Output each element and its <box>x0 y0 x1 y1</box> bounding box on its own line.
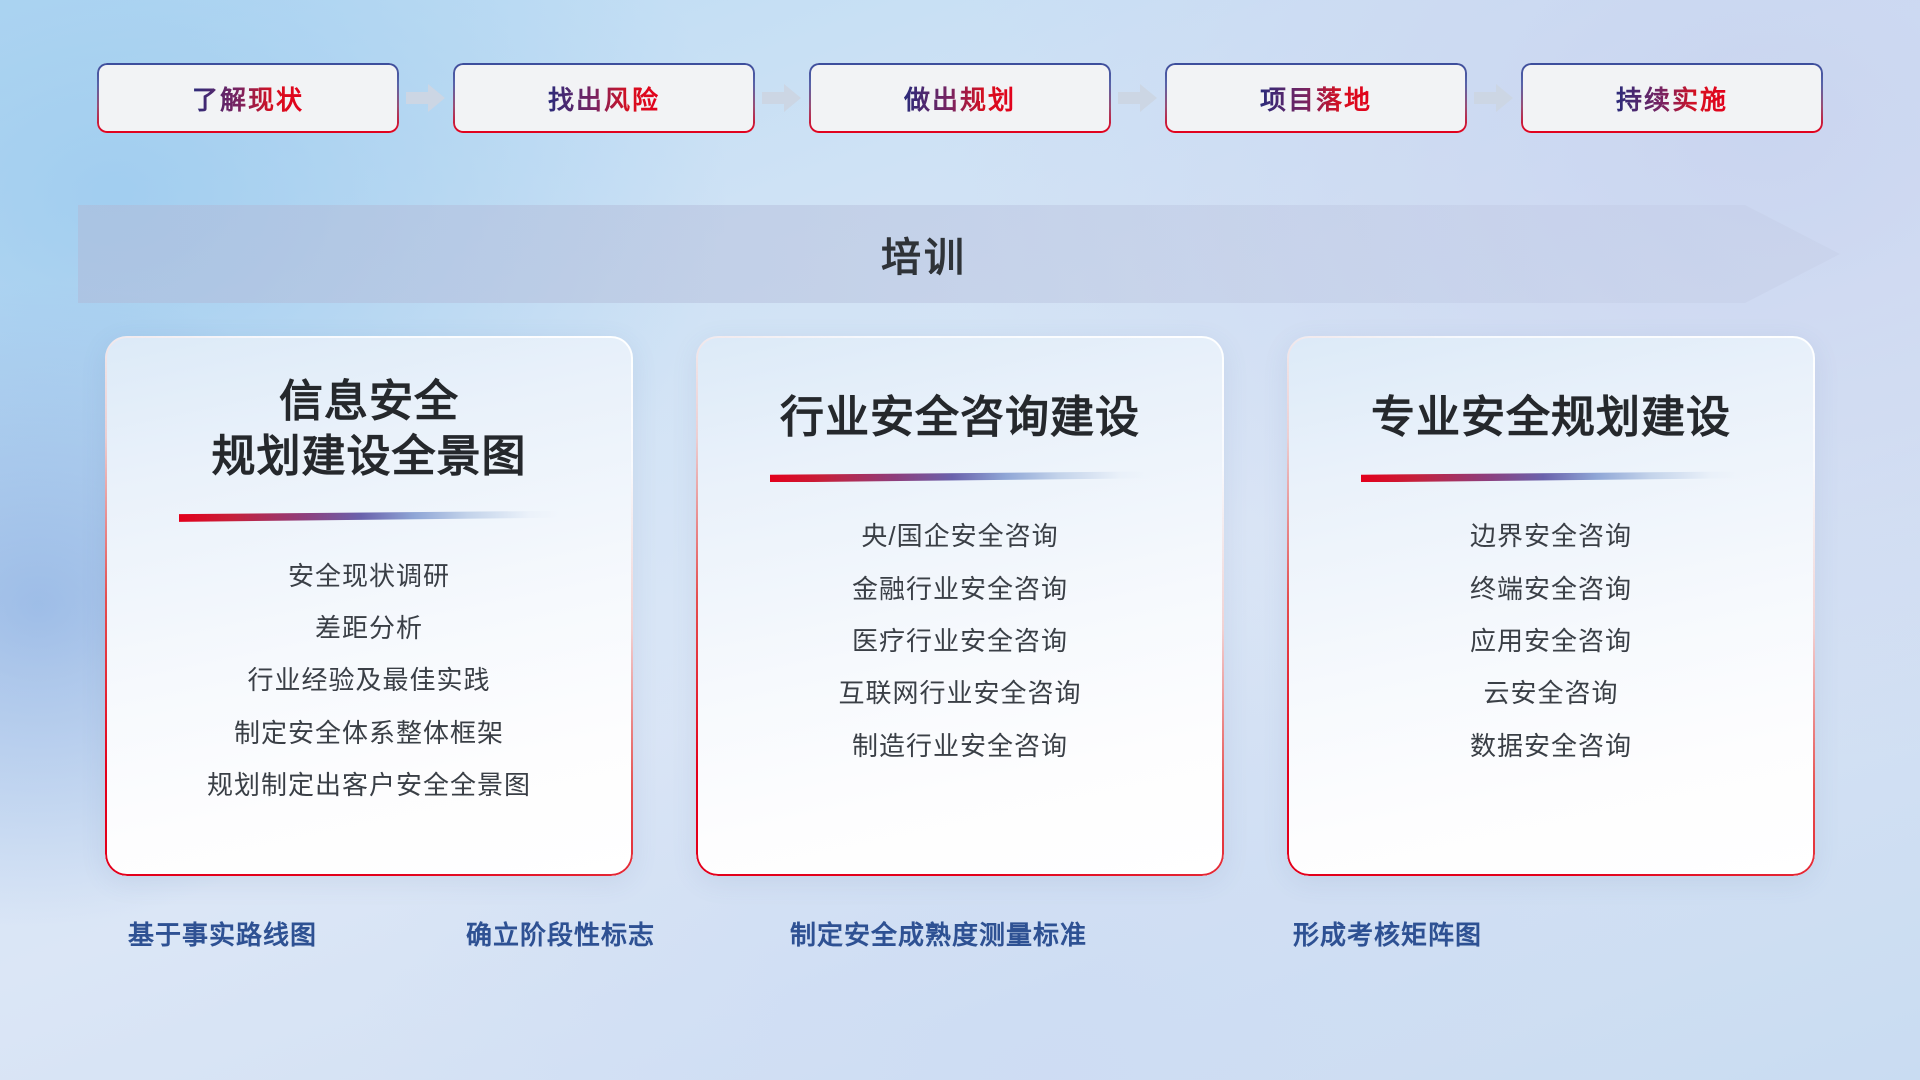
step-box-4[interactable]: 项目落地 <box>1165 63 1467 133</box>
list-item: 应用安全咨询 <box>1470 621 1632 661</box>
bottom-label-2: 确立阶段性标志 <box>466 915 655 952</box>
arrow-right-icon <box>399 63 453 133</box>
process-step-row: 了解现状 找出风险 做出规划 项目落地 持续实施 <box>0 63 1920 133</box>
list-item: 制定安全体系整体框架 <box>234 713 504 753</box>
step-box-3[interactable]: 做出规划 <box>809 63 1111 133</box>
step-label: 了解现状 <box>192 80 304 117</box>
list-item: 边界安全咨询 <box>1470 516 1632 556</box>
list-item: 行业经验及最佳实践 <box>247 660 490 700</box>
list-item: 医疗行业安全咨询 <box>852 621 1068 661</box>
card-3[interactable]: 专业安全规划建设 边界安全咨询 终端安全咨询 应用安全咨询 云安全咨询 数据安全… <box>1287 336 1815 876</box>
list-item: 安全现状调研 <box>288 556 450 596</box>
card-divider <box>770 471 1150 482</box>
arrow-right-icon <box>1111 63 1165 133</box>
card-title-line1: 专业安全规划建设 <box>1371 390 1731 445</box>
card-title: 行业安全咨询建设 <box>780 390 1140 445</box>
bottom-labels-row: 基于事实路线图 确立阶段性标志 制定安全成熟度测量标准 形成考核矩阵图 <box>0 915 1920 967</box>
step-label: 找出风险 <box>548 80 660 117</box>
card-title: 专业安全规划建设 <box>1371 390 1731 445</box>
step-box-5[interactable]: 持续实施 <box>1521 63 1823 133</box>
list-item: 制造行业安全咨询 <box>852 726 1068 766</box>
step-box-1[interactable]: 了解现状 <box>97 63 399 133</box>
card-list: 边界安全咨询 终端安全咨询 应用安全咨询 云安全咨询 数据安全咨询 <box>1287 516 1815 765</box>
card-list: 安全现状调研 差距分析 行业经验及最佳实践 制定安全体系整体框架 规划制定出客户… <box>105 556 633 805</box>
list-item: 数据安全咨询 <box>1470 726 1632 766</box>
list-item: 规划制定出客户安全全景图 <box>207 765 531 805</box>
list-item: 金融行业安全咨询 <box>852 569 1068 609</box>
cards-container: 信息安全 规划建设全景图 安全现状调研 差距分析 行业经验及最佳实践 制定安全体… <box>0 336 1920 876</box>
card-2[interactable]: 行业安全咨询建设 央/国企安全咨询 金融行业安全咨询 医疗行业安全咨询 互联网行… <box>696 336 1224 876</box>
arrow-right-icon <box>1467 63 1521 133</box>
step-label: 做出规划 <box>904 80 1016 117</box>
card-title-line1: 行业安全咨询建设 <box>780 390 1140 445</box>
arrow-right-icon <box>755 63 809 133</box>
list-item: 央/国企安全咨询 <box>861 516 1058 556</box>
bottom-label-4: 形成考核矩阵图 <box>1293 915 1482 952</box>
step-label: 项目落地 <box>1260 80 1372 117</box>
training-banner-label: 培训 <box>78 205 1840 303</box>
training-banner-arrow: 培训 <box>78 205 1840 303</box>
step-label: 持续实施 <box>1616 80 1728 117</box>
list-item: 终端安全咨询 <box>1470 569 1632 609</box>
list-item: 互联网行业安全咨询 <box>838 673 1081 713</box>
card-title: 信息安全 规划建设全景图 <box>212 374 527 485</box>
bottom-label-1: 基于事实路线图 <box>128 915 317 952</box>
card-divider <box>179 511 559 522</box>
card-1[interactable]: 信息安全 规划建设全景图 安全现状调研 差距分析 行业经验及最佳实践 制定安全体… <box>105 336 633 876</box>
card-title-line1: 信息安全 <box>212 374 527 429</box>
card-list: 央/国企安全咨询 金融行业安全咨询 医疗行业安全咨询 互联网行业安全咨询 制造行… <box>696 516 1224 765</box>
list-item: 云安全咨询 <box>1483 673 1618 713</box>
card-title-line2: 规划建设全景图 <box>212 429 527 484</box>
step-box-2[interactable]: 找出风险 <box>453 63 755 133</box>
card-divider <box>1361 471 1741 482</box>
bottom-label-3: 制定安全成熟度测量标准 <box>790 915 1087 952</box>
list-item: 差距分析 <box>315 608 423 648</box>
